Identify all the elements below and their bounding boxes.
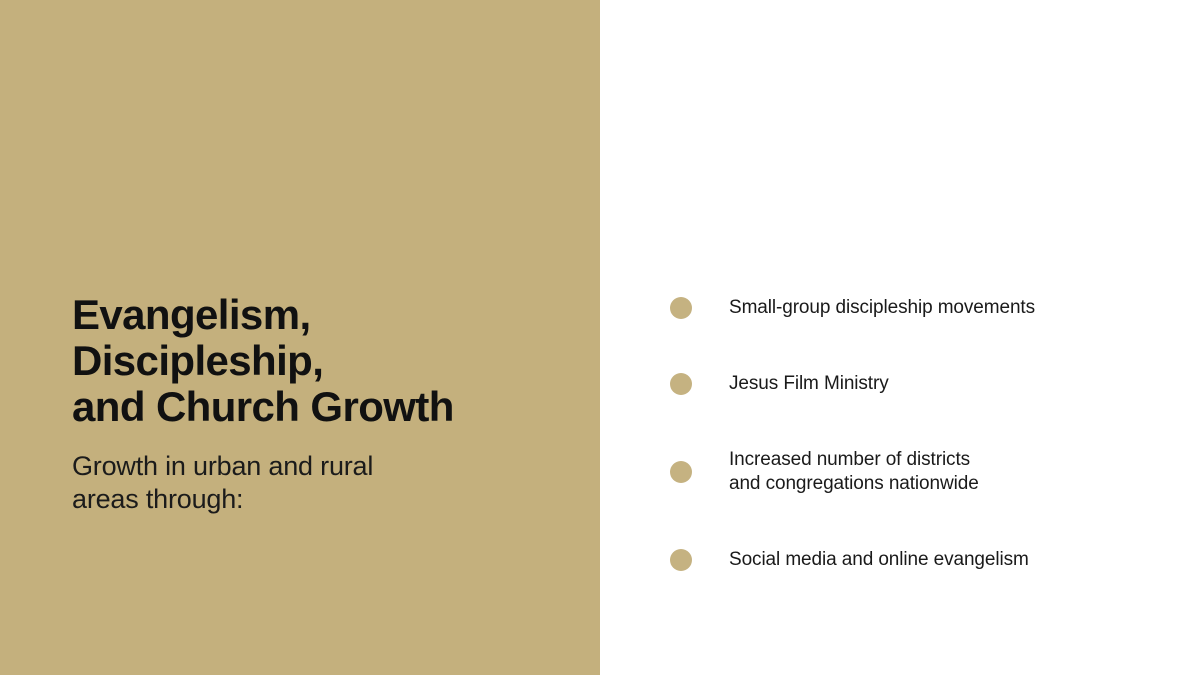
- list-item-label: Jesus Film Ministry: [729, 372, 889, 396]
- list-item: Small-group discipleship movements: [670, 296, 1170, 320]
- presentation-slide: Evangelism, Discipleship, and Church Gro…: [0, 0, 1200, 675]
- bullet-dot-icon: [670, 373, 692, 395]
- list-item: Jesus Film Ministry: [670, 372, 1170, 396]
- bullet-dot-icon: [670, 461, 692, 483]
- slide-title: Evangelism, Discipleship, and Church Gro…: [72, 292, 542, 430]
- title-panel: Evangelism, Discipleship, and Church Gro…: [0, 0, 600, 675]
- title-block: Evangelism, Discipleship, and Church Gro…: [72, 292, 542, 516]
- list-item: Increased number of districts and congre…: [670, 448, 1170, 496]
- slide-subtitle: Growth in urban and rural areas through:: [72, 430, 542, 516]
- list-item-label: Small-group discipleship movements: [729, 296, 1035, 320]
- bullet-list: Small-group discipleship movements Jesus…: [670, 296, 1170, 572]
- list-item-label: Increased number of districts and congre…: [729, 448, 979, 496]
- bullet-dot-icon: [670, 297, 692, 319]
- content-panel: Small-group discipleship movements Jesus…: [600, 0, 1200, 675]
- list-item-label: Social media and online evangelism: [729, 548, 1029, 572]
- bullet-dot-icon: [670, 549, 692, 571]
- list-item: Social media and online evangelism: [670, 548, 1170, 572]
